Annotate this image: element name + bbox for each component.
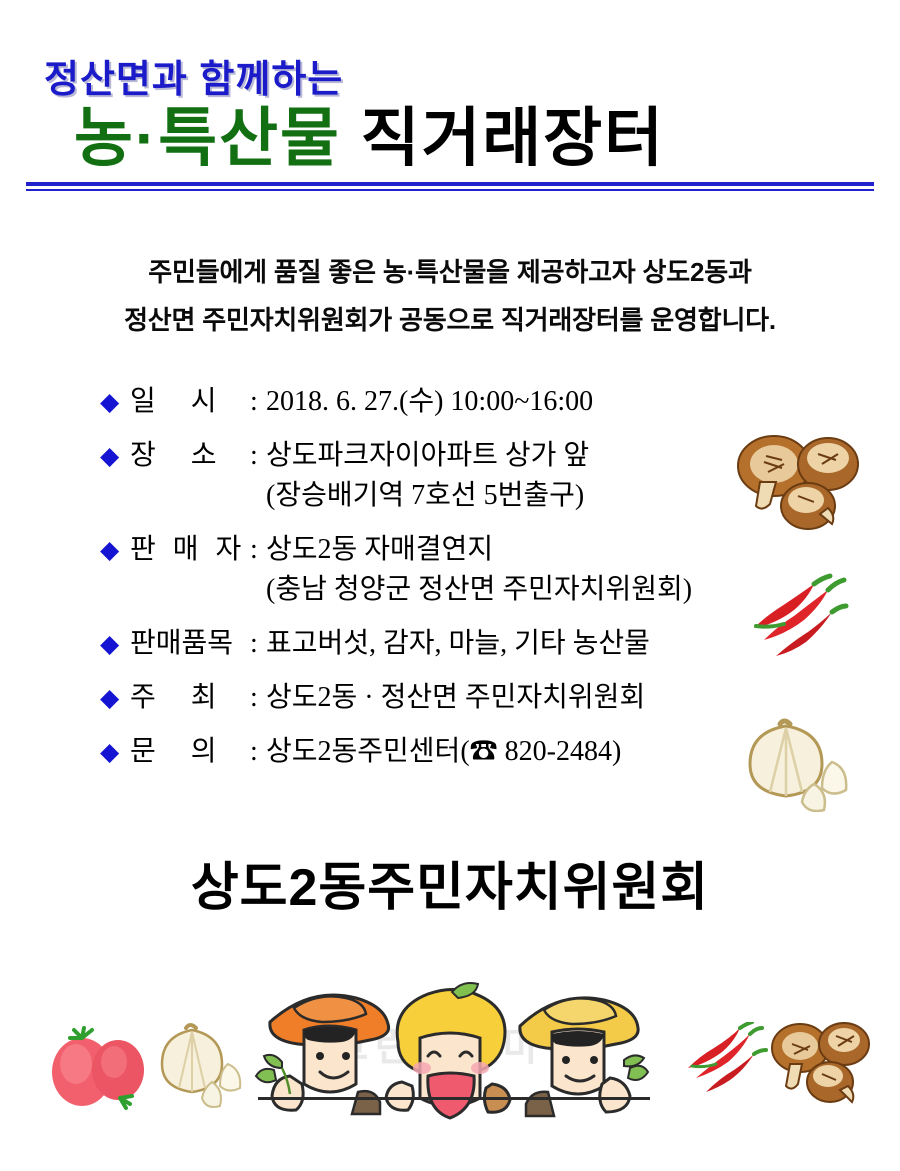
intro-line-1: 주민들에게 품질 좋은 농·특산물을 제공하고자 상도2동과 — [48, 248, 852, 296]
detail-colon: : — [250, 530, 266, 570]
garlic-bulb-icon — [152, 1020, 248, 1121]
page-title: 농·특산물 직거래장터 — [74, 106, 665, 170]
tomato-icon — [46, 1014, 150, 1123]
detail-colon: : — [250, 624, 266, 664]
detail-item-host: ◆ 주 최 : 상도2동 · 정산면 주민자치위원회 — [100, 678, 800, 718]
illustration-ground-line — [258, 1097, 650, 1100]
detail-label-datetime: 일 시 — [130, 382, 250, 422]
detail-value-host: 상도2동 · 정산면 주민자치위원회 — [266, 678, 800, 718]
detail-value-products: 표고버섯, 감자, 마늘, 기타 농산물 — [266, 624, 800, 664]
detail-subvalue-seller: (충남 청양군 정산면 주민자치위원회) — [266, 570, 800, 610]
intro-paragraph: 주민들에게 품질 좋은 농·특산물을 제공하고자 상도2동과 정산면 주민자치위… — [48, 248, 852, 344]
divider-thin-line — [26, 189, 874, 191]
detail-value-seller: 상도2동 자매결연지 — [266, 530, 800, 570]
red-chili-pepper-icon — [684, 1022, 770, 1105]
detail-label-products: 판매품목 — [130, 624, 250, 664]
detail-item-location: ◆ 장 소 : 상도파크자이아파트 상가 앞 (장승배기역 7호선 5번출구) — [100, 436, 800, 516]
diamond-bullet-icon: ◆ — [100, 530, 130, 570]
page-title-green-part: 농·특산물 — [74, 102, 341, 174]
red-chili-pepper-icon — [736, 572, 866, 672]
detail-item-datetime: ◆ 일 시 : 2018. 6. 27.(수) 10:00~16:00 — [100, 382, 800, 422]
garlic-bulb-icon — [736, 712, 866, 817]
diamond-bullet-icon: ◆ — [100, 382, 130, 422]
farmer-characters-illustration — [252, 972, 652, 1147]
detail-value-contact: 상도2동주민센터(☎ 820-2484) — [266, 732, 800, 772]
detail-colon: : — [250, 678, 266, 718]
detail-value-datetime: 2018. 6. 27.(수) 10:00~16:00 — [266, 382, 800, 422]
diamond-bullet-icon: ◆ — [100, 624, 130, 664]
detail-label-contact: 문 의 — [130, 732, 250, 772]
detail-item-contact: ◆ 문 의 : 상도2동주민센터(☎ 820-2484) — [100, 732, 800, 772]
organizer-name: 상도2동주민자치위원회 — [0, 845, 900, 920]
shiitake-mushroom-icon — [768, 1014, 872, 1115]
detail-label-seller: 판 매 자 — [130, 530, 250, 570]
title-divider — [26, 182, 874, 191]
detail-label-host: 주 최 — [130, 678, 250, 718]
shiitake-mushroom-icon — [732, 424, 872, 539]
detail-item-seller: ◆ 판 매 자 : 상도2동 자매결연지 (충남 청양군 정산면 주민자치위원회… — [100, 530, 800, 610]
detail-colon: : — [250, 436, 266, 476]
detail-item-products: ◆ 판매품목 : 표고버섯, 감자, 마늘, 기타 농산물 — [100, 624, 800, 664]
detail-value-location: 상도파크자이아파트 상가 앞 — [266, 436, 800, 476]
intro-line-2: 정산면 주민자치위원회가 공동으로 직거래장터를 운영합니다. — [48, 296, 852, 344]
diamond-bullet-icon: ◆ — [100, 436, 130, 476]
poster-subtitle: 정산면과 함께하는 — [44, 48, 343, 103]
detail-label-location: 장 소 — [130, 436, 250, 476]
detail-colon: : — [250, 732, 266, 772]
event-details-list: ◆ 일 시 : 2018. 6. 27.(수) 10:00~16:00 ◆ 장 … — [100, 382, 800, 786]
detail-subvalue-location: (장승배기역 7호선 5번출구) — [266, 476, 800, 516]
diamond-bullet-icon: ◆ — [100, 678, 130, 718]
diamond-bullet-icon: ◆ — [100, 732, 130, 772]
page-title-black-part: 직거래장터 — [361, 102, 665, 174]
detail-colon: : — [250, 382, 266, 422]
poster-page: 정산면과 함께하는 농·특산물 직거래장터 주민들에게 품질 좋은 농·특산물을… — [0, 0, 900, 1171]
